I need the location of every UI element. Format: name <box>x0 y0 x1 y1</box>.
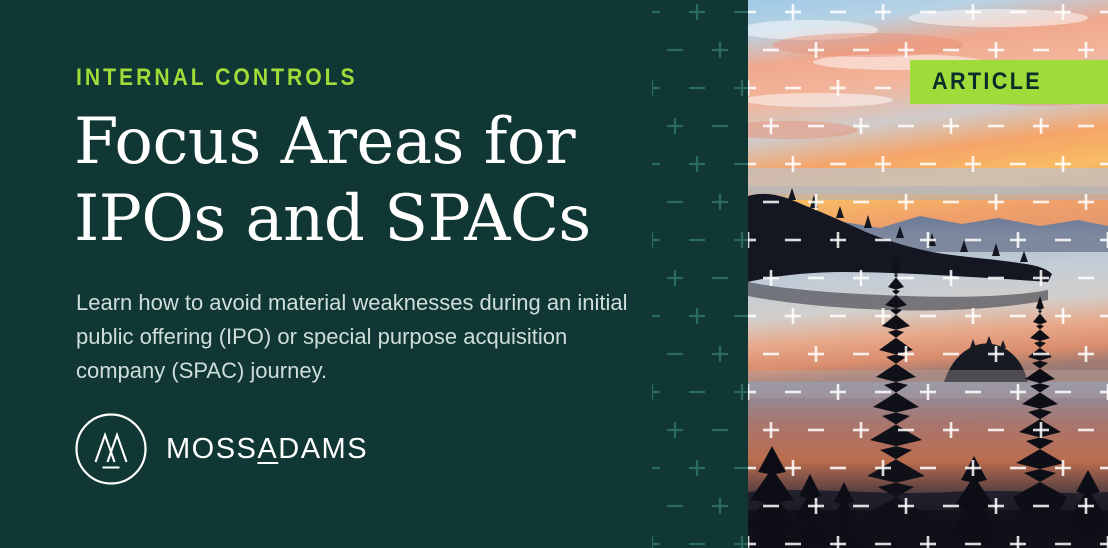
article-banner: INTERNAL CONTROLS Focus Areas for IPOs a… <box>0 0 1108 548</box>
wordmark-a-underlined: A <box>257 433 278 466</box>
headline-line-2: IPOs and SPACs <box>74 181 694 258</box>
status-badge: ARTICLE <box>910 60 1108 104</box>
wordmark-moss: MOSS <box>166 433 257 466</box>
moss-adams-logo[interactable]: MOSSADAMS <box>74 412 368 486</box>
eyebrow-category: INTERNAL CONTROLS <box>76 64 358 92</box>
badge-label: ARTICLE <box>932 68 1042 96</box>
moss-adams-mountain-icon <box>74 412 148 486</box>
moss-adams-wordmark: MOSSADAMS <box>166 433 368 466</box>
wordmark-dams: DAMS <box>278 433 368 466</box>
page-title: Focus Areas for IPOs and SPACs <box>74 104 694 258</box>
subhead-description: Learn how to avoid material weaknesses d… <box>76 286 636 388</box>
headline-line-1: Focus Areas for <box>74 104 694 181</box>
